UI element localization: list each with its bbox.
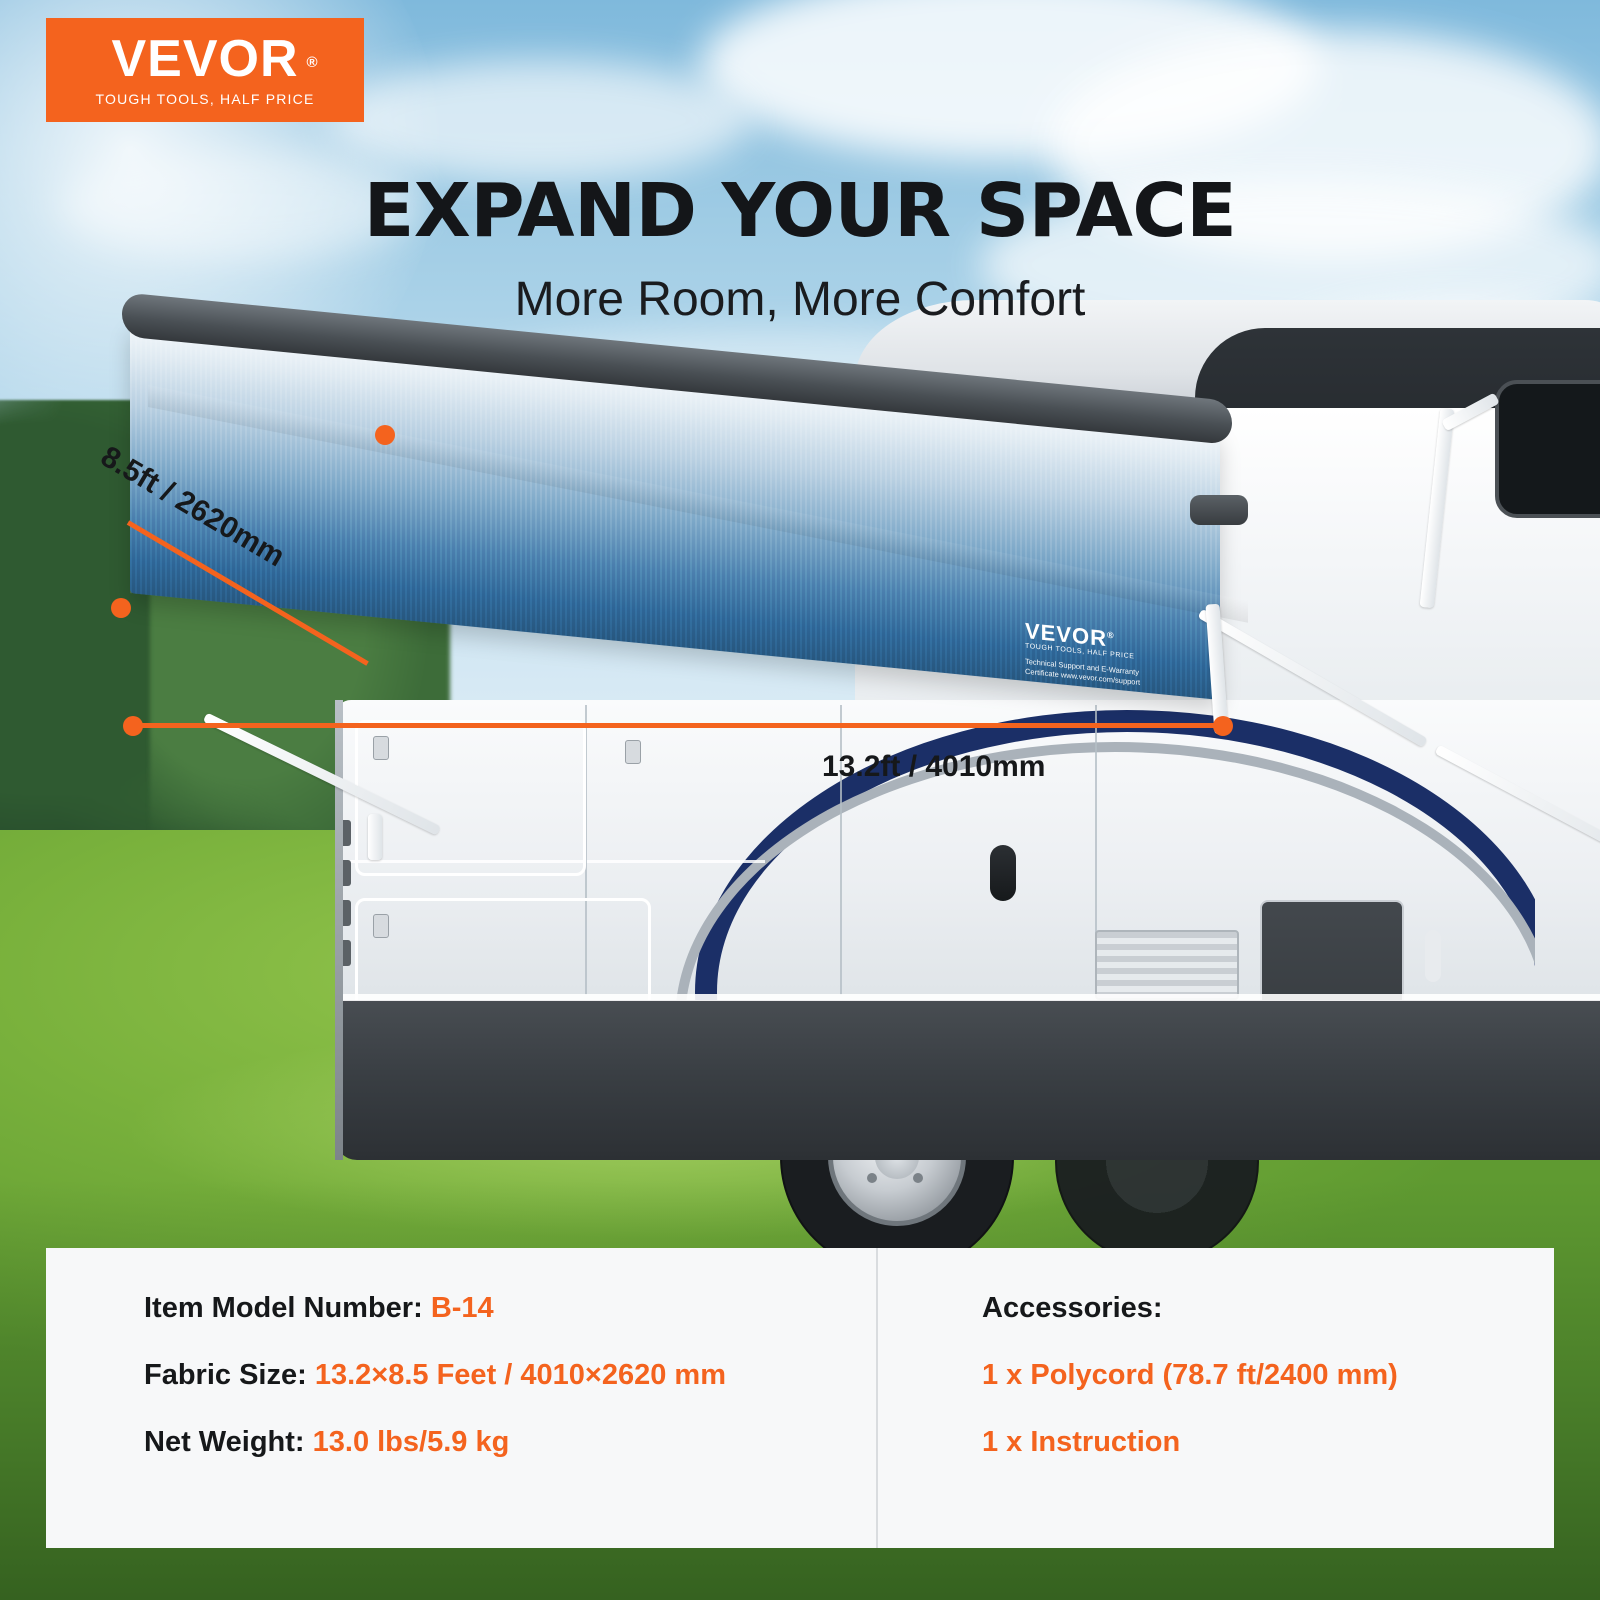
width-endpoint-dot bbox=[123, 716, 143, 736]
rv-latch bbox=[373, 736, 389, 760]
spec-label: Item Model Number: bbox=[144, 1292, 423, 1324]
vevor-logo: VEVOR® TOUGH TOOLS, HALF PRICE bbox=[46, 18, 364, 122]
rv-door-handle bbox=[1425, 930, 1441, 982]
rv-lug-nut bbox=[913, 1173, 923, 1183]
rv-lower-skirt bbox=[335, 1000, 1600, 1160]
spec-value: B-14 bbox=[431, 1292, 494, 1324]
awning-brand-registered: ® bbox=[1107, 630, 1115, 641]
spec-panel-left: Item Model Number: B-14 Fabric Size: 13.… bbox=[46, 1248, 876, 1548]
vevor-logo-word: VEVOR bbox=[111, 30, 298, 88]
product-marketing-image: VEVOR® TOUGH TOOLS, HALF PRICE Technical… bbox=[0, 0, 1600, 1600]
rv-grab-handle bbox=[990, 845, 1016, 901]
vevor-logo-registered: ® bbox=[306, 37, 318, 89]
rv-latch bbox=[625, 740, 641, 764]
spec-row: Net Weight: 13.0 lbs/5.9 kg bbox=[144, 1426, 876, 1459]
hero-subheadline: More Room, More Comfort bbox=[0, 272, 1600, 327]
spec-value: 13.2×8.5 Feet / 4010×2620 mm bbox=[315, 1359, 726, 1391]
spec-label: Net Weight: bbox=[144, 1426, 305, 1458]
spec-row: Item Model Number: B-14 bbox=[144, 1292, 876, 1325]
width-measure-rule bbox=[132, 723, 1232, 728]
rv-panel-seam bbox=[840, 705, 842, 995]
projection-measure-line bbox=[120, 435, 410, 617]
rv-skirt-trim bbox=[335, 994, 1600, 1001]
accessory-item: 1 x Polycord (78.7 ft/2400 mm) bbox=[982, 1359, 1554, 1392]
spec-panel: Item Model Number: B-14 Fabric Size: 13.… bbox=[46, 1248, 1554, 1548]
spec-value: 13.0 lbs/5.9 kg bbox=[313, 1426, 510, 1458]
rv-vent bbox=[1095, 930, 1239, 1000]
vevor-logo-tagline: TOUGH TOOLS, HALF PRICE bbox=[96, 91, 315, 107]
awning-foot-left bbox=[368, 814, 382, 860]
spec-row: Fabric Size: 13.2×8.5 Feet / 4010×2620 m… bbox=[144, 1359, 876, 1392]
spec-label: Fabric Size: bbox=[144, 1359, 307, 1391]
rv-storage-door bbox=[355, 720, 586, 876]
rv-window bbox=[1495, 380, 1600, 518]
projection-endpoint-dot bbox=[375, 425, 395, 445]
rv-latch bbox=[373, 914, 389, 938]
spec-panel-right: Accessories: 1 x Polycord (78.7 ft/2400 … bbox=[876, 1248, 1554, 1548]
width-dimension-label: 13.2ft / 4010mm bbox=[822, 750, 1045, 784]
hero-headline: EXPAND YOUR SPACE bbox=[0, 168, 1600, 254]
accessories-title: Accessories: bbox=[982, 1292, 1554, 1325]
awning-roller-end-cap bbox=[1190, 495, 1248, 525]
rv-lug-nut bbox=[867, 1173, 877, 1183]
vevor-logo-text: VEVOR® bbox=[111, 33, 298, 85]
rv-front-edge bbox=[335, 700, 343, 1160]
width-endpoint-dot bbox=[1213, 716, 1233, 736]
accessory-item: 1 x Instruction bbox=[982, 1426, 1554, 1459]
projection-endpoint-dot bbox=[111, 598, 131, 618]
